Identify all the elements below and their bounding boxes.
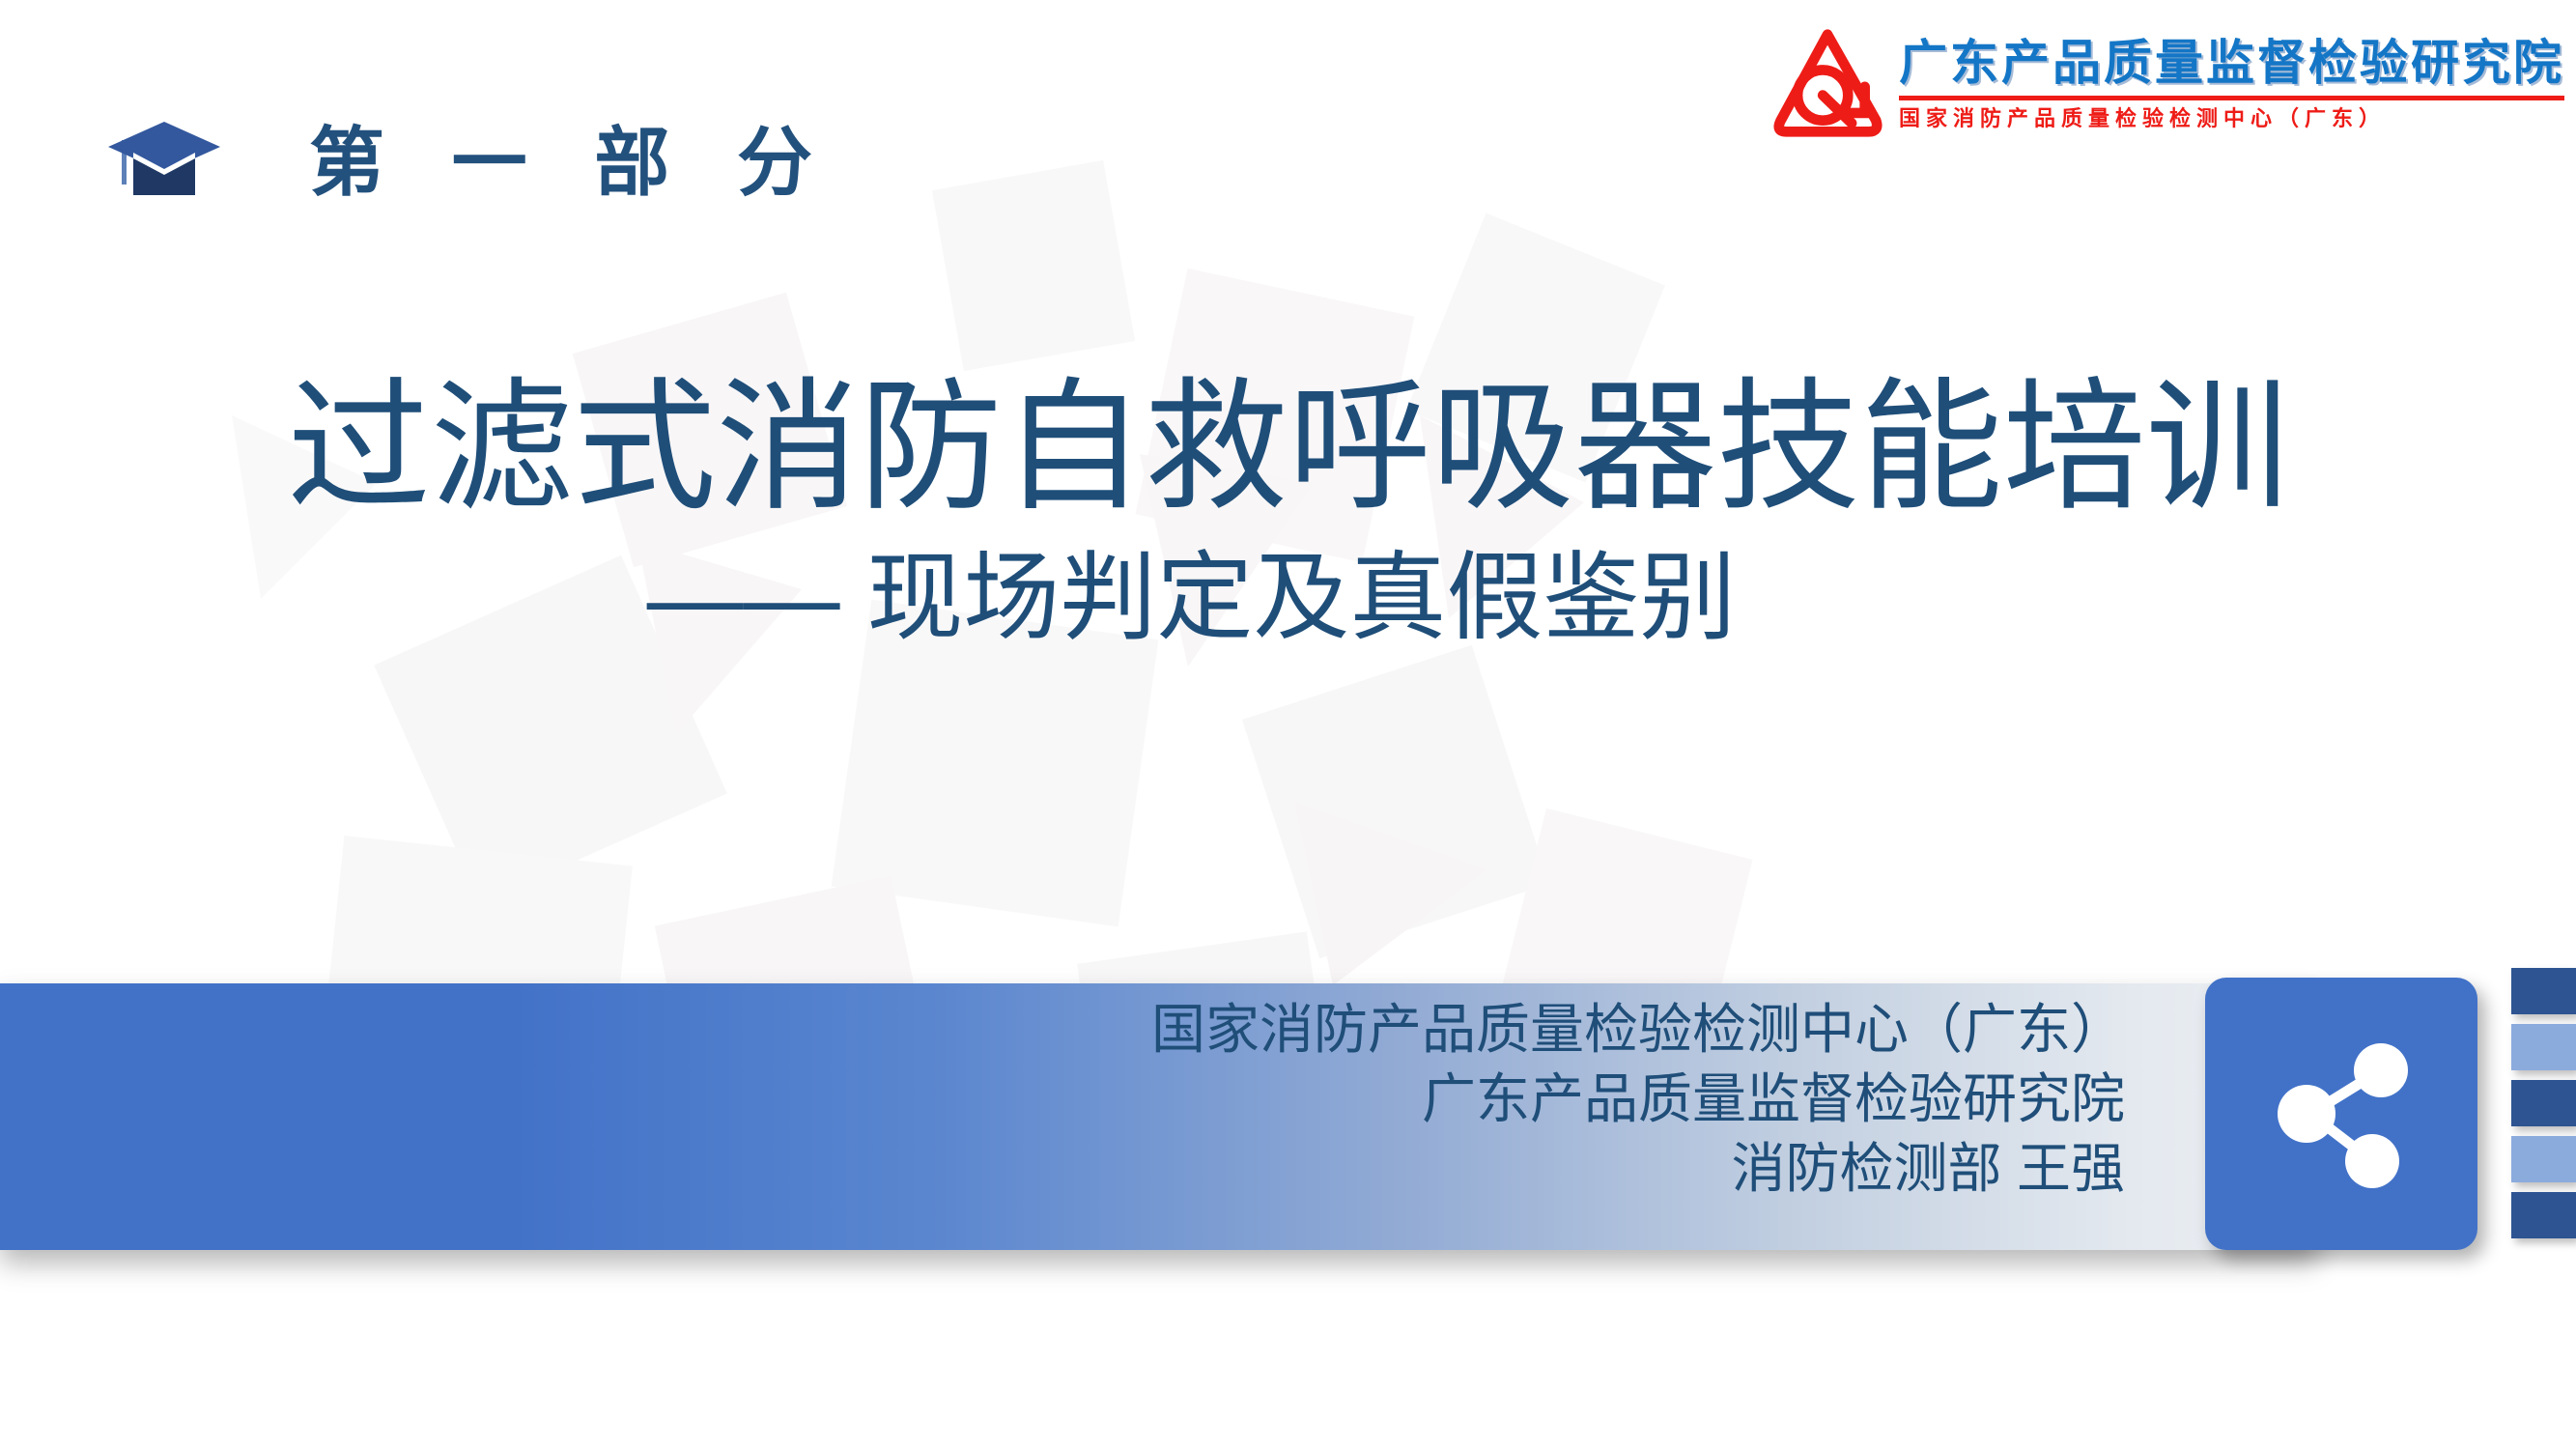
logo-divider-rule [1899,96,2564,100]
edge-bar [2511,1192,2576,1238]
share-tile[interactable] [2205,978,2477,1250]
page-title: 第 一 部 分 [309,116,835,209]
edge-bar-stack [2511,968,2576,1248]
title-block: 过滤式消防自救呼吸器技能培训 —— 现场判定及真假鉴别 [0,367,2576,655]
logo-organization-name: 广东产品质量监督检验研究院 [1899,35,2564,91]
slide-root: 第 一 部 分 广东产品质量监督检验研究院 国家消防产品质量检验检测中心（广东）… [0,0,2576,1449]
footer-line-presenter: 消防检测部 王强 [0,1134,2125,1204]
main-title: 过滤式消防自救呼吸器技能培训 [0,367,2576,529]
qg-triangle-certification-mark [1771,27,1883,139]
logo-text-block: 广东产品质量监督检验研究院 国家消防产品质量检验检测中心（广东） [1899,35,2564,131]
footer-line-institute: 广东产品质量监督检验研究院 [0,1065,2125,1134]
footer-credits: 国家消防产品质量检验检测中心（广东） 广东产品质量监督检验研究院 消防检测部 王… [0,995,2125,1204]
edge-bar [2511,1024,2576,1070]
logo-center-name: 国家消防产品质量检验检测中心（广东） [1899,106,2564,131]
edge-bar [2511,1080,2576,1126]
footer-line-center: 国家消防产品质量检验检测中心（广东） [0,995,2125,1065]
edge-bar [2511,968,2576,1014]
edge-bar [2511,1136,2576,1182]
share-nodes-icon [2254,1027,2428,1201]
institute-logo: 广东产品质量监督检验研究院 国家消防产品质量检验检测中心（广东） [1771,27,2564,139]
graduation-cap-icon [106,114,222,207]
subtitle: —— 现场判定及真假鉴别 [0,541,2576,655]
